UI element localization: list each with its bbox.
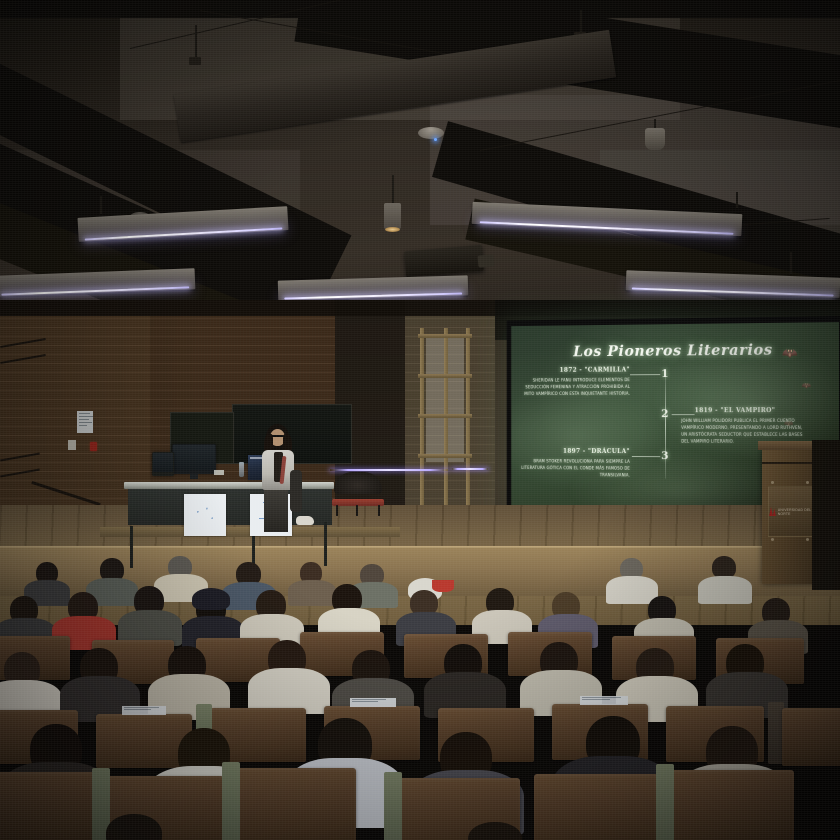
chair-back xyxy=(334,472,382,494)
projector-icon xyxy=(404,245,484,278)
seat-armrest xyxy=(384,772,402,840)
detector-led-icon xyxy=(434,138,437,141)
ceiling xyxy=(0,0,840,330)
smoke-detector-icon xyxy=(418,127,444,139)
entry-year-title: 1819 - "EL VAMPIRO" xyxy=(681,407,805,414)
presenter-legs xyxy=(264,490,288,532)
fixture-mount xyxy=(189,57,201,65)
timeline-number-2: 2 xyxy=(661,407,668,420)
cap-icon xyxy=(192,588,230,610)
fixture-hanger xyxy=(100,196,102,214)
slide-timeline xyxy=(665,371,666,479)
stage-monitor[interactable] xyxy=(172,444,216,474)
wall-led-strip xyxy=(330,469,448,471)
wooden-trellis xyxy=(418,328,472,523)
poster-content xyxy=(187,499,222,531)
fixture-hanger xyxy=(736,192,738,208)
water-bottle xyxy=(239,462,244,477)
seat-handout[interactable] xyxy=(580,696,628,705)
cap-brim-icon xyxy=(432,580,454,592)
table-paper xyxy=(214,470,224,475)
projector-lens-icon xyxy=(478,254,495,267)
presenter-arm xyxy=(290,470,302,512)
wall-switch-box[interactable] xyxy=(68,440,76,450)
fluorescent-fixture xyxy=(278,275,468,300)
lectern-rail xyxy=(762,462,818,464)
seat-armrest xyxy=(656,764,674,840)
lectern-plaque: UNIVERSIDAD DEL NORTE xyxy=(768,486,814,537)
seat-armrest xyxy=(222,762,240,840)
auditorium-seat[interactable] xyxy=(0,772,96,840)
timeline-tick xyxy=(632,456,660,457)
auditorium-seat[interactable] xyxy=(782,708,840,766)
stage-chair[interactable] xyxy=(332,472,384,516)
chair-seat xyxy=(332,499,384,506)
pendant-hanger xyxy=(392,175,394,205)
presenter-table xyxy=(124,482,334,534)
table-top xyxy=(124,482,334,489)
seat-handout[interactable] xyxy=(122,706,166,715)
slide-title: Los Pioneros Literarios xyxy=(511,340,839,361)
monitor-screen xyxy=(173,445,215,470)
entry-body: SHERIDAN LE FANU INTRODUCE ELEMENTOS DE … xyxy=(517,376,630,397)
audience xyxy=(0,556,840,840)
auditorium-seat[interactable] xyxy=(234,768,356,840)
auditorium-seat[interactable] xyxy=(534,774,658,840)
timeline-tick xyxy=(630,374,660,375)
presenter-shoe xyxy=(296,516,314,525)
slide-entry-carmilla: 1872 - "CARMILLA" SHERIDAN LE FANU INTRO… xyxy=(517,367,630,398)
university-logo-icon xyxy=(769,507,776,516)
table-poster xyxy=(184,494,226,536)
seat-handout[interactable] xyxy=(350,698,396,707)
pendant-lamp-icon xyxy=(384,203,401,229)
monitor-stand xyxy=(190,474,198,479)
timeline-number-3: 3 xyxy=(661,449,668,462)
audience-shoulders xyxy=(288,580,336,606)
auditorium-photo: 🦇 🦇 🦇 Los Pioneros Literarios 1 2 3 1872… xyxy=(0,0,840,840)
audience-shoulders xyxy=(698,576,752,604)
wall-led-strip xyxy=(452,468,488,470)
equipment-face xyxy=(153,453,173,472)
ceiling-beam xyxy=(0,0,840,18)
fixture-hanger xyxy=(790,252,792,274)
wall-notice xyxy=(77,411,93,433)
auditorium-seat[interactable] xyxy=(668,770,794,840)
speaker-icon xyxy=(645,128,665,150)
university-name: UNIVERSIDAD DEL NORTE xyxy=(778,508,813,516)
bat-icon: 🦇 xyxy=(801,382,811,390)
stage-equipment xyxy=(152,452,174,476)
entry-year-title: 1897 - "DRÁCULA" xyxy=(517,448,630,455)
slide-entry-dracula: 1897 - "DRÁCULA" BRAM STOKER REVOLUCIONA… xyxy=(517,448,630,479)
entry-body: BRAM STOKER REVOLUCIONA PARA SIEMPRE LA … xyxy=(517,457,630,478)
slide-entry-el-vampiro: 1819 - "EL VAMPIRO" JOHN WILLIAM POLIDOR… xyxy=(681,407,805,445)
entry-year-title: 1872 - "CARMILLA" xyxy=(517,367,630,375)
timeline-number-1: 1 xyxy=(661,367,668,380)
fire-alarm-icon[interactable] xyxy=(90,442,97,451)
